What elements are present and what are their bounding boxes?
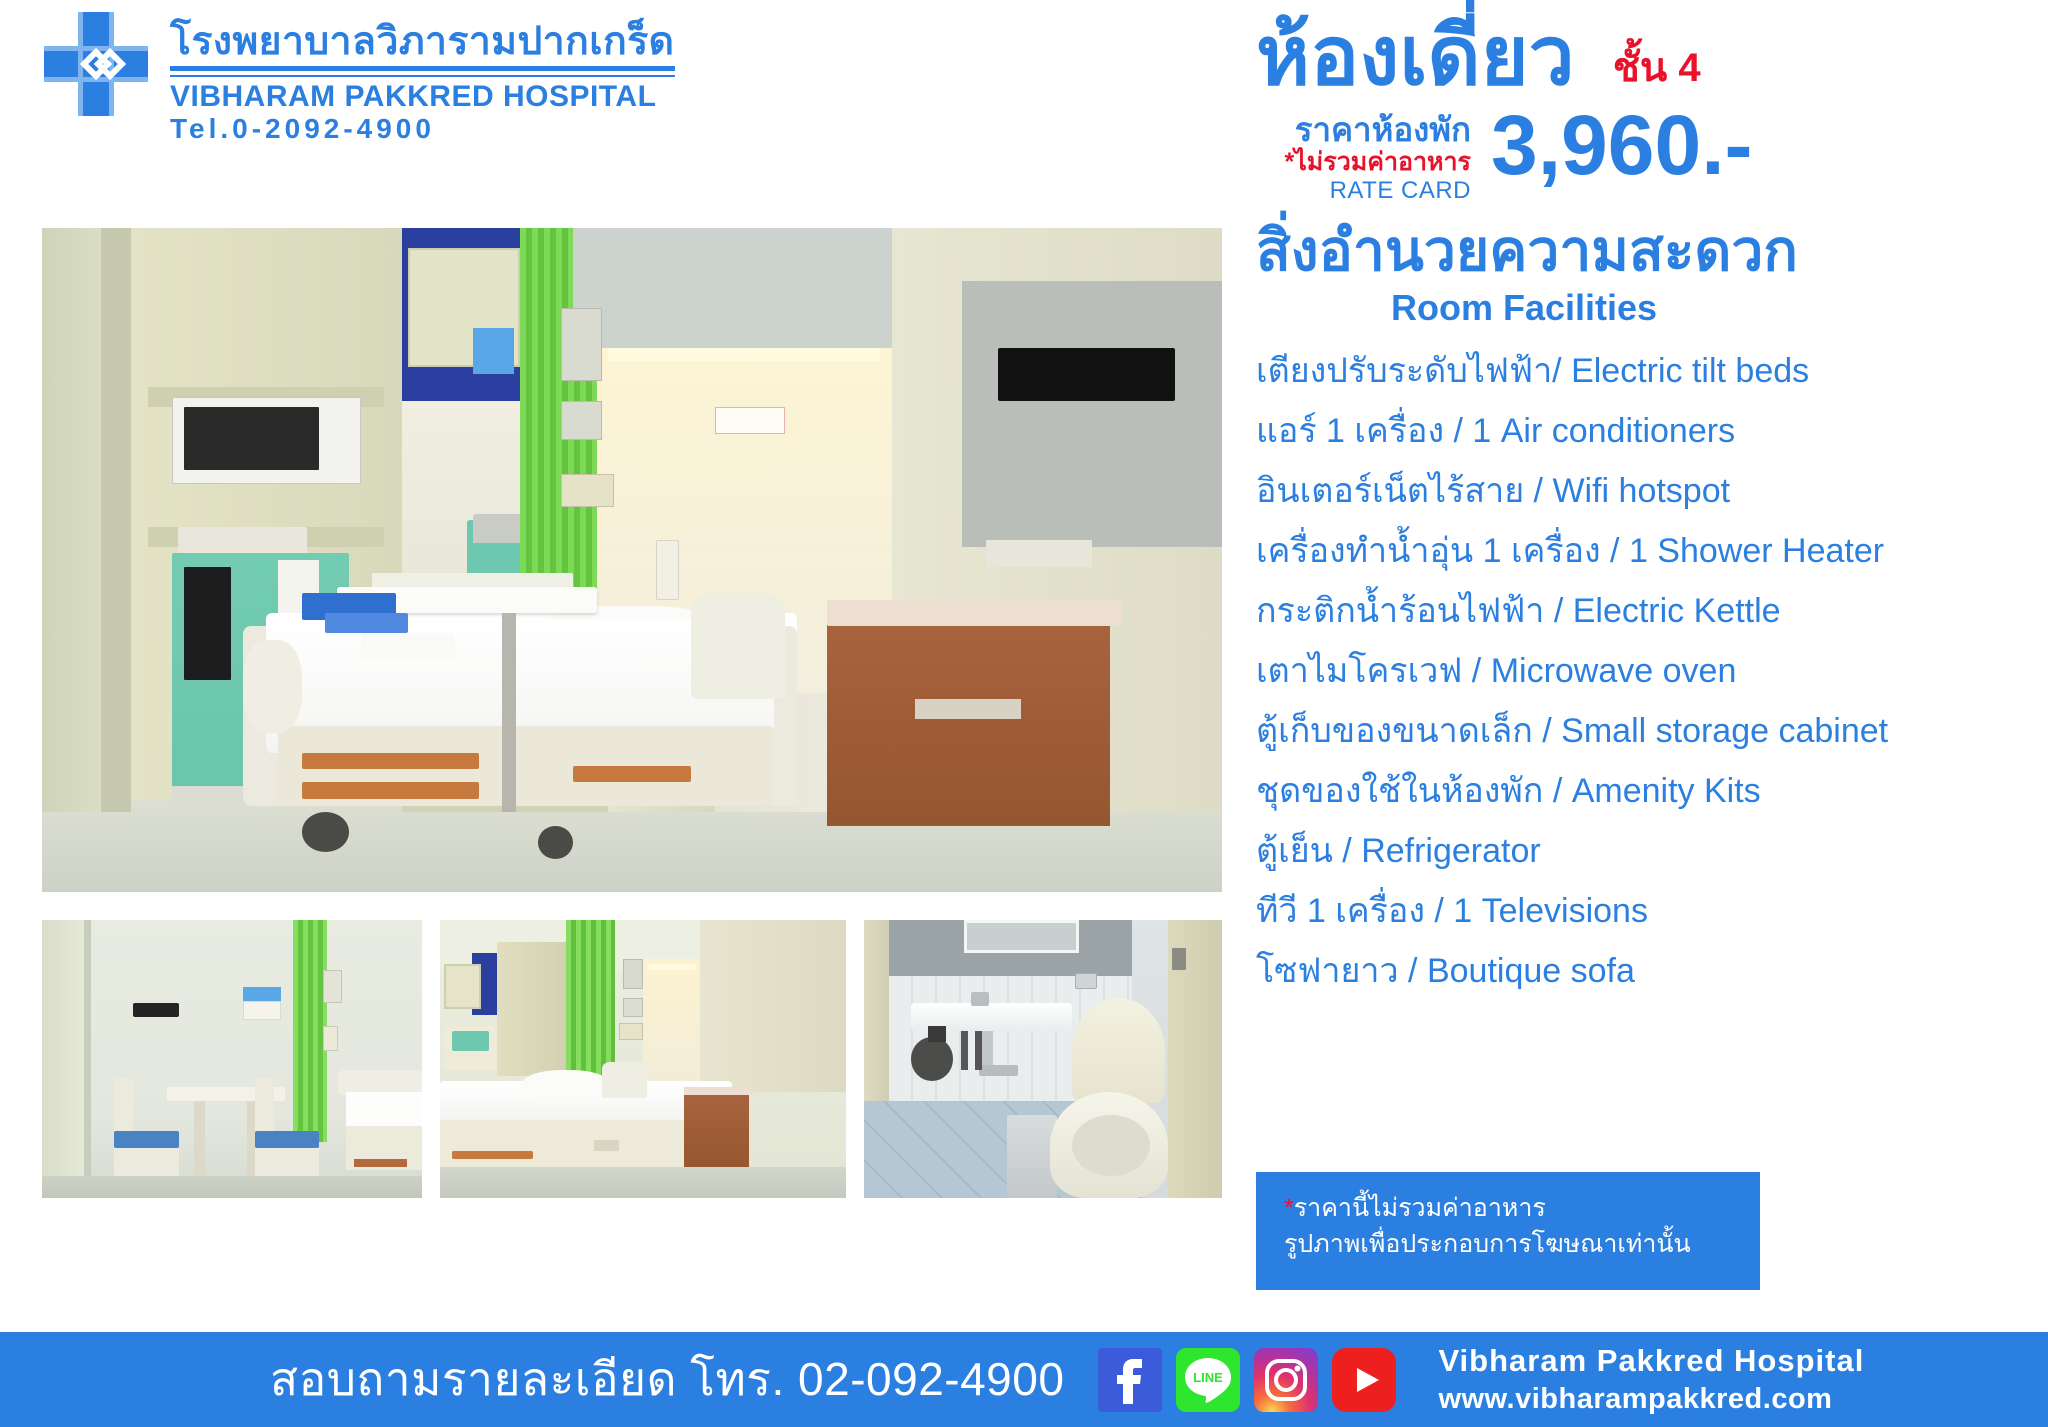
mirror-in-bathroom	[964, 920, 1079, 953]
instagram-icon[interactable]	[1254, 1348, 1318, 1412]
room-title-row: ห้องเดี่ยว ชั้น 4	[1256, 16, 2046, 98]
footer-brand-block: Vibharam Pakkred Hospital www.vibharampa…	[1438, 1342, 1864, 1417]
facility-item: เตียงปรับระดับไฟฟ้า/ Electric tilt beds	[1256, 354, 2046, 388]
footer-bar: สอบถามรายละเอียด โทร. 02-092-4900 LINE	[0, 1332, 2048, 1427]
price-label-group: ราคาห้องพัก *ไม่รวมค่าอาหาร RATE CARD	[1256, 106, 1471, 205]
price-note-thai: *ไม่รวมค่าอาหาร	[1256, 148, 1471, 177]
room-type-title: ห้องเดี่ยว	[1256, 16, 1575, 98]
wall-outlet-thumb	[133, 1003, 179, 1017]
hospital-name-en: VIBHARAM PAKKRED HOSPITAL	[170, 81, 675, 113]
green-curtain-thumb	[293, 920, 327, 1142]
hospital-cross-logo-icon	[40, 8, 152, 120]
line-icon[interactable]: LINE	[1176, 1348, 1240, 1412]
facility-item: โซฟายาว / Boutique sofa	[1256, 954, 2046, 988]
facility-item: แอร์ 1 เครื่อง / 1 Air conditioners	[1256, 414, 2046, 448]
price-amount: 3,960.-	[1491, 106, 1753, 186]
thumbnail-bathroom	[864, 920, 1222, 1198]
thumbnail-room-bed	[440, 920, 846, 1198]
facebook-icon[interactable]	[1098, 1348, 1162, 1412]
logo-divider-thin	[170, 75, 675, 77]
tv-in-photo	[998, 348, 1175, 401]
price-row: ราคาห้องพัก *ไม่รวมค่าอาหาร RATE CARD 3,…	[1256, 106, 2046, 205]
svg-text:LINE: LINE	[1194, 1370, 1224, 1385]
asterisk-marker: *	[1284, 1194, 1294, 1222]
facility-item: ทีวี 1 เครื่อง / 1 Televisions	[1256, 894, 2046, 928]
footer-contact-text: สอบถามรายละเอียด โทร. 02-092-4900	[270, 1343, 1064, 1416]
facility-item: เครื่องทำน้ำอุ่น 1 เครื่อง / 1 Shower He…	[1256, 534, 2046, 568]
thumbnail-room-seating	[42, 920, 422, 1198]
toilet-in-bathroom	[1072, 998, 1165, 1104]
price-label-thai: ราคาห้องพัก	[1256, 112, 1471, 148]
logo-divider-thick	[170, 66, 675, 71]
disclaimer-line-1: *ราคานี้ไม่รวมค่าอาหาร	[1284, 1190, 1760, 1226]
facility-item: เตาไมโครเวฟ / Microwave oven	[1256, 654, 2046, 688]
facilities-list: เตียงปรับระดับไฟฟ้า/ Electric tilt beds …	[1256, 354, 2046, 988]
disclaimer-text-1: ราคานี้ไม่รวมค่าอาหาร	[1294, 1194, 1546, 1222]
facility-item: ตู้เย็น / Refrigerator	[1256, 834, 2046, 868]
hospital-logo-block: โรงพยาบาลวิภารามปากเกร็ด VIBHARAM PAKKRE…	[40, 8, 675, 145]
hospital-name-block: โรงพยาบาลวิภารามปากเกร็ด VIBHARAM PAKKRE…	[170, 8, 675, 145]
poster-root: โรงพยาบาลวิภารามปากเกร็ด VIBHARAM PAKKRE…	[0, 0, 2048, 1427]
floor-badge: ชั้น 4	[1613, 48, 1701, 88]
facilities-heading-thai: สิ่งอำนวยความสะดวก	[1256, 223, 2046, 280]
rate-card-label: RATE CARD	[1256, 177, 1471, 205]
bedside-cabinet-in-photo	[827, 613, 1110, 825]
facility-item: กระติกน้ำร้อนไฟฟ้า / Electric Kettle	[1256, 594, 2046, 628]
disclaimer-box: *ราคานี้ไม่รวมค่าอาหาร รูปภาพเพื่อประกอบ…	[1256, 1172, 1760, 1290]
social-icons-row: LINE	[1098, 1348, 1396, 1412]
footer-website[interactable]: www.vibharampakkred.com	[1438, 1381, 1864, 1417]
hospital-telephone: Tel.0-2092-4900	[170, 113, 675, 145]
main-room-photo	[42, 228, 1222, 892]
facility-item: ชุดของใช้ในห้องพัก / Amenity Kits	[1256, 774, 2046, 808]
hospital-name-thai: โรงพยาบาลวิภารามปากเกร็ด	[170, 22, 675, 61]
facility-item: อินเตอร์เน็ตไร้สาย / Wifi hotspot	[1256, 474, 2046, 508]
footer-hospital-name: Vibharam Pakkred Hospital	[1438, 1342, 1864, 1381]
facility-item: ตู้เก็บของขนาดเล็ก / Small storage cabin…	[1256, 714, 2046, 748]
youtube-icon[interactable]	[1332, 1348, 1396, 1412]
disclaimer-line-2: รูปภาพเพื่อประกอบการโฆษณาเท่านั้น	[1284, 1226, 1760, 1262]
right-info-column: ห้องเดี่ยว ชั้น 4 ราคาห้องพัก *ไม่รวมค่า…	[1256, 0, 2046, 1014]
facilities-heading-en: Room Facilities	[1391, 290, 2046, 326]
